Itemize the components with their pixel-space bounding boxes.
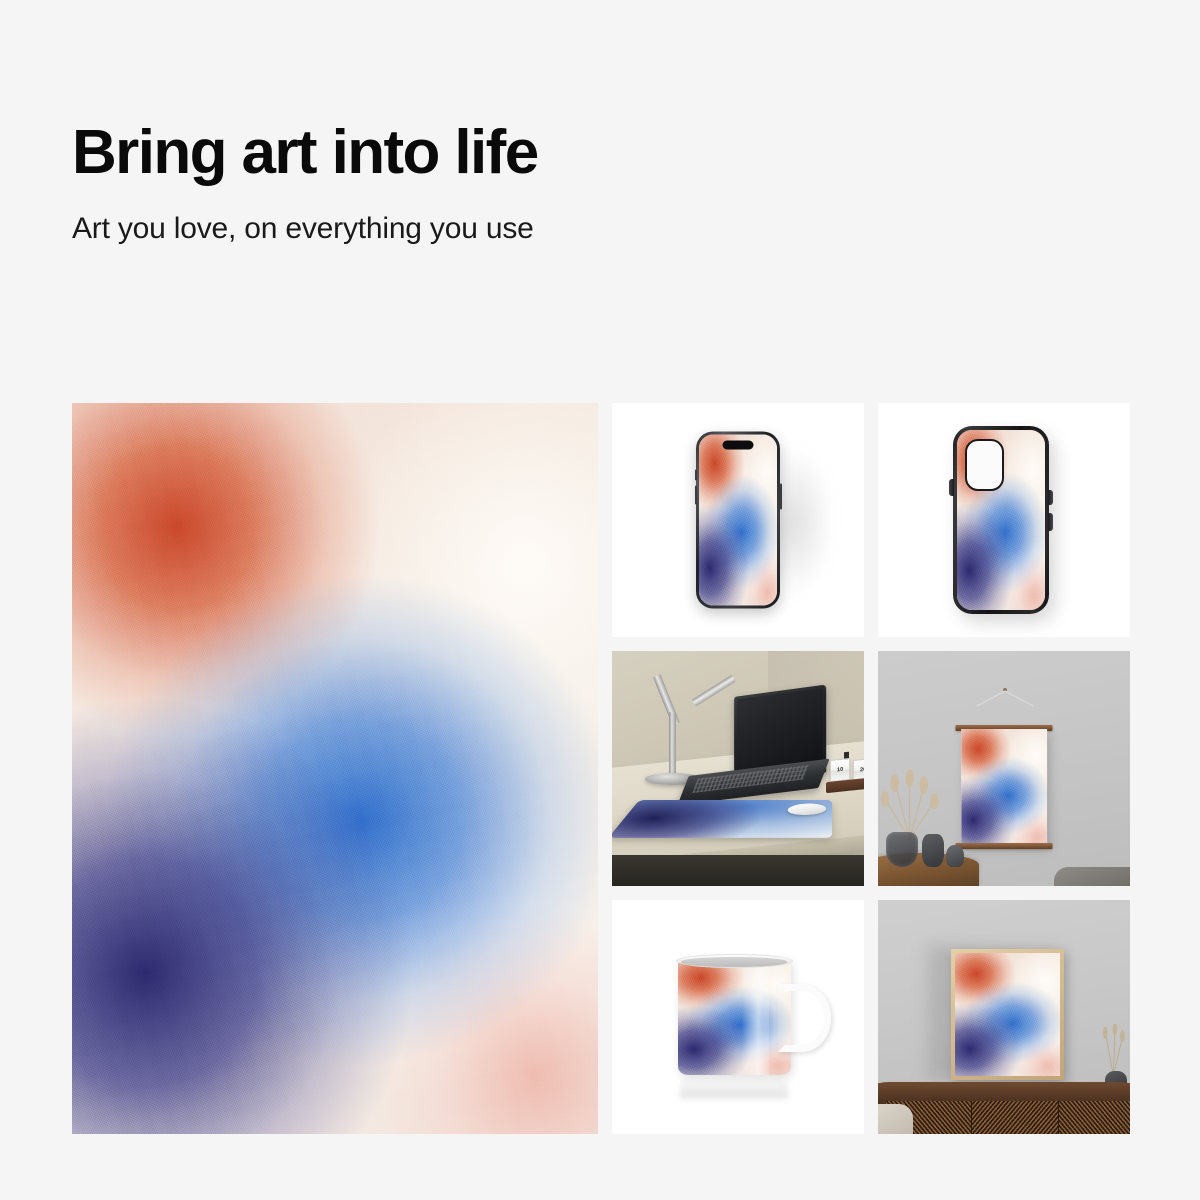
abstract-gradient-artwork [699, 435, 777, 606]
hanging-poster-mockup-tile[interactable] [878, 651, 1130, 885]
abstract-gradient-artwork [955, 953, 1060, 1076]
phone-mockup-tile[interactable] [612, 403, 864, 637]
lamp-pole-icon [669, 712, 677, 778]
sideboard-body [886, 1101, 1130, 1134]
framed-poster-product [951, 949, 1064, 1080]
mug-gloss-highlight [742, 958, 769, 1075]
mug-mockup-tile[interactable] [612, 900, 864, 1134]
abstract-gradient-artwork [961, 729, 1047, 846]
mug-handle-icon [778, 984, 831, 1052]
power-button-icon [780, 484, 782, 510]
mug-reflection [680, 1075, 788, 1098]
pampas-grass-icon [878, 769, 949, 839]
product-gallery: 10 26 [72, 403, 1130, 1134]
abstract-gradient-artwork [678, 958, 791, 1075]
case-side-button-icon [1048, 513, 1053, 532]
framed-poster-mockup-tile[interactable] [878, 900, 1130, 1134]
sofa-arm [1054, 867, 1130, 886]
page-header: Bring art into life Art you love, on eve… [72, 118, 538, 247]
page-title: Bring art into life [72, 118, 538, 187]
phone-case-device [953, 426, 1049, 614]
slat-panel [1059, 1101, 1130, 1134]
mockup-grid: 10 26 [612, 403, 1130, 1134]
abstract-gradient-artwork [72, 403, 598, 1134]
calendar-day-card: 10 [830, 758, 850, 782]
camera-cutout-icon [965, 439, 1004, 491]
slat-panel [972, 1101, 1059, 1134]
phone-device [696, 432, 780, 609]
phone-screen [699, 435, 777, 606]
desk-underside [612, 855, 864, 885]
case-side-button-icon [949, 479, 954, 496]
page-subtitle: Art you love, on everything you use [72, 211, 538, 247]
dynamic-island-icon [723, 441, 754, 450]
ceramic-vase-icon [922, 834, 943, 867]
hanging-cord-icon [973, 690, 1037, 707]
pampas-grass-icon [1097, 1024, 1130, 1076]
mug-product [678, 958, 791, 1075]
phone-case-back [957, 430, 1045, 610]
volume-up-button-icon [695, 470, 697, 481]
phone-case-mockup-tile[interactable] [878, 403, 1130, 637]
hero-artwork-tile[interactable] [72, 403, 598, 1134]
sideboard-slats [886, 1101, 1130, 1134]
case-side-button-icon [1048, 490, 1053, 505]
hanging-poster-product [961, 729, 1047, 846]
mug-interior [681, 957, 787, 966]
sofa-arm [878, 1104, 913, 1134]
poster-rail-bottom [955, 843, 1052, 848]
frame-artwork-area [955, 953, 1060, 1076]
ceramic-vase-icon [946, 845, 964, 867]
volume-down-button-icon [695, 486, 697, 505]
glass-vase-icon [886, 832, 919, 867]
desk-mat-mockup-tile[interactable]: 10 26 [612, 651, 864, 885]
